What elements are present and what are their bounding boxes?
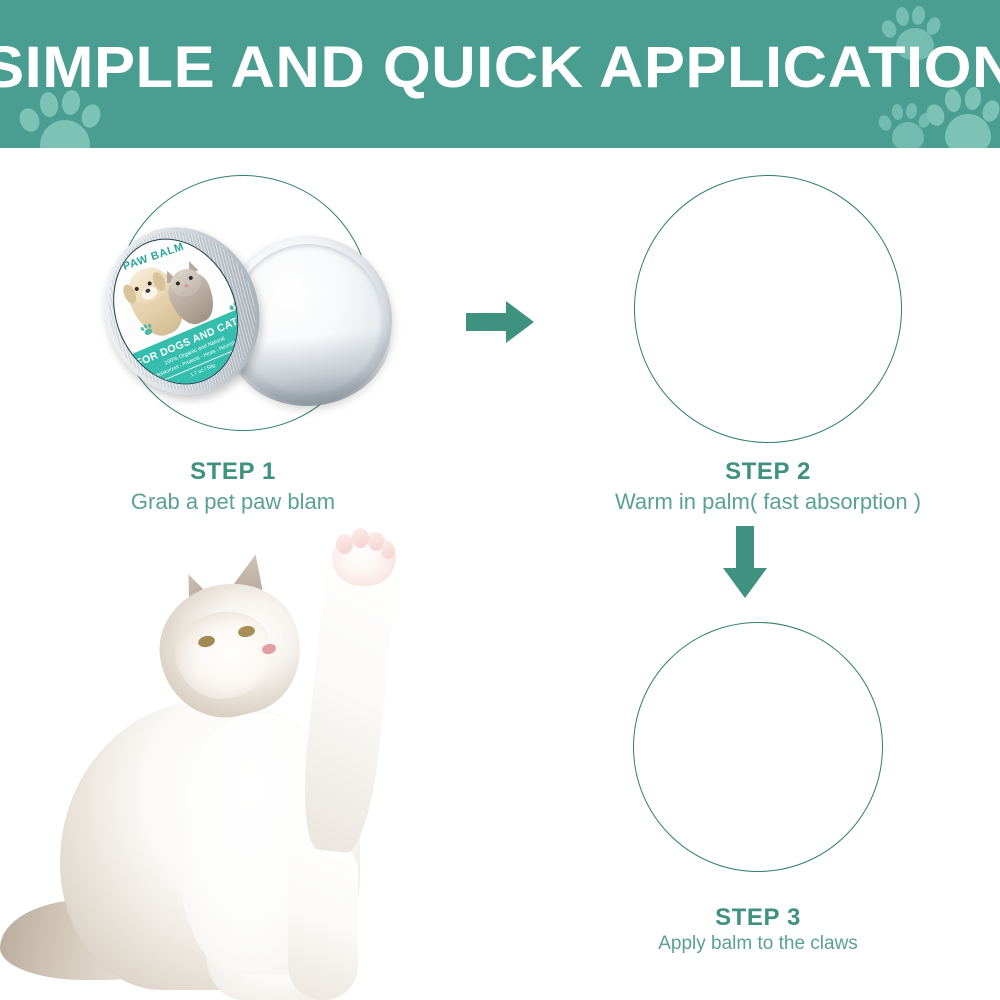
step-2-title: STEP 2 (588, 458, 948, 486)
arrow-right-icon (466, 300, 534, 344)
paw-print-icon (878, 100, 932, 148)
arrow-down-icon (722, 526, 768, 598)
step-3-circle-frame (633, 622, 883, 872)
step-2-circle-frame (634, 175, 902, 443)
step-3-title: STEP 3 (608, 904, 908, 932)
steps-content: PAW BALM (0, 148, 1000, 1000)
step-1-description: Grab a pet paw blam (33, 489, 433, 515)
step-3-description: Apply balm to the claws (588, 933, 928, 955)
page-title: SIMPLE AND QUICK APPLICATION (0, 34, 1000, 101)
header-banner: SIMPLE AND QUICK APPLICATION (0, 0, 1000, 148)
cat-raised-leg (297, 549, 400, 855)
cat-paw-toe (336, 534, 353, 554)
step-1-title: STEP 1 (33, 458, 433, 486)
paw-balm-tin-image: PAW BALM (106, 208, 396, 408)
cat-paw-toe (352, 528, 369, 548)
cat-front-leg (288, 838, 358, 1000)
cat-paw-toe (381, 542, 395, 559)
step-2-description: Warm in palm( fast absorption ) (538, 489, 998, 515)
ragdoll-cat-photo (0, 518, 450, 1000)
